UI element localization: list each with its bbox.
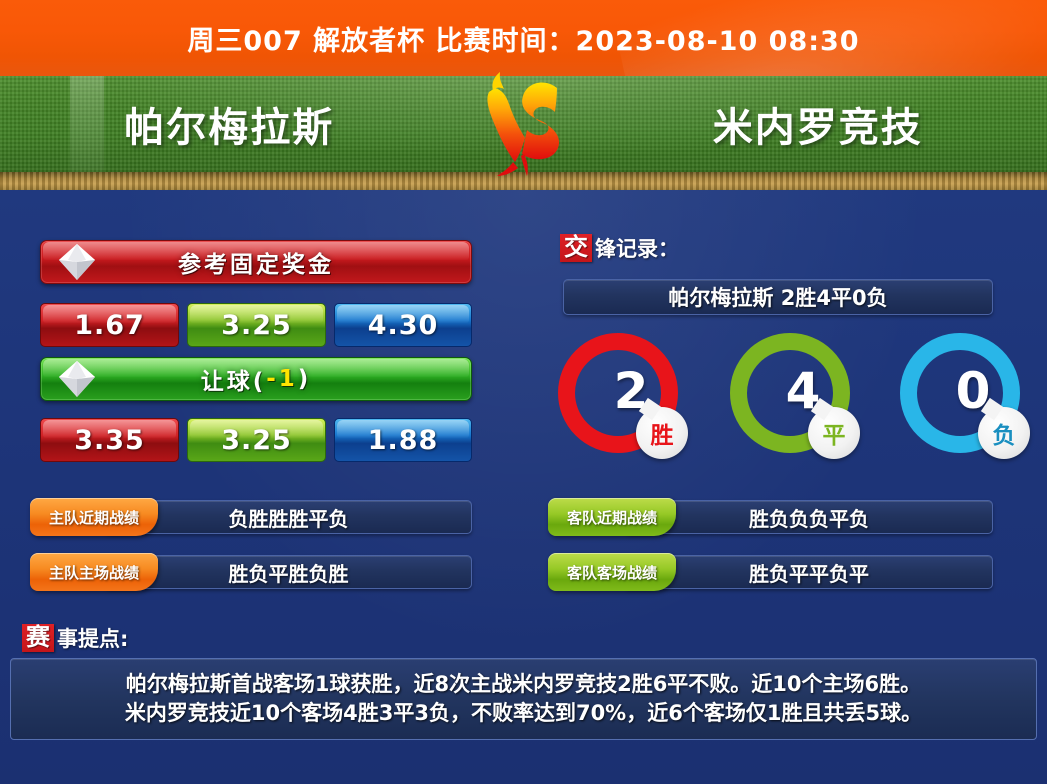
- odds-home-win[interactable]: 1.67: [40, 303, 179, 347]
- h2h-ring-loss: 0 负: [900, 333, 1020, 453]
- diamond-gem-icon: [55, 357, 99, 401]
- match-preview-graphic: 周三007 解放者杯 比赛时间：2023-08-10 08:30 帕尔梅拉斯: [0, 0, 1047, 784]
- analysis-header-label: 事提点:: [57, 623, 128, 653]
- home-recent-form-value: 负胜胜胜平负: [105, 500, 472, 534]
- handicap-title-prefix: 让球(: [201, 362, 267, 396]
- header-title: 周三007 解放者杯 比赛时间：2023-08-10 08:30: [187, 19, 859, 58]
- h2h-section-header: 交 锋记录：: [560, 233, 679, 263]
- diamond-gem-icon: [55, 240, 99, 284]
- fixed-odds-title: 参考固定奖金: [178, 245, 334, 279]
- handicap-title-bar: 让球( -1 ): [40, 357, 472, 401]
- handicap-away-win[interactable]: 1.88: [334, 418, 472, 462]
- h2h-ring-draw: 4 平: [730, 333, 850, 453]
- h2h-loss-badge: 负: [978, 407, 1030, 459]
- h2h-win-badge: 胜: [636, 407, 688, 459]
- analysis-line-2: 米内罗竞技近10个客场4胜3平3负，不败率达到70%，近6个客场仅1胜且共丢5球…: [125, 699, 922, 728]
- vs-flame-icon: [469, 70, 579, 178]
- home-team-name: 帕尔梅拉斯: [0, 95, 459, 153]
- analysis-box: 帕尔梅拉斯首战客场1球获胜，近8次主战米内罗竞技2胜6平不败。近10个主场6胜。…: [10, 658, 1037, 740]
- away-team-name: 米内罗竞技: [589, 95, 1047, 153]
- vs-logo: [459, 70, 589, 178]
- h2h-summary-bar: 帕尔梅拉斯 2胜4平0负: [563, 279, 993, 315]
- header-bar: 周三007 解放者杯 比赛时间：2023-08-10 08:30: [0, 0, 1047, 76]
- odds-draw[interactable]: 3.25: [187, 303, 326, 347]
- h2h-ring-win: 2 胜: [558, 333, 678, 453]
- fixed-odds-title-bar: 参考固定奖金: [40, 240, 472, 284]
- handicap-title-suffix: ): [298, 366, 312, 392]
- away-away-form-value: 胜负平平负平: [625, 555, 993, 589]
- analysis-section-header: 赛 事提点:: [22, 623, 128, 653]
- handicap-home-win[interactable]: 3.35: [40, 418, 179, 462]
- away-recent-form-value: 胜负负负平负: [625, 500, 993, 534]
- h2h-header-label: 锋记录：: [595, 233, 679, 263]
- odds-away-win[interactable]: 4.30: [334, 303, 472, 347]
- handicap-value: -1: [266, 366, 298, 392]
- analysis-header-glyph: 赛: [22, 624, 54, 652]
- away-recent-form-label: 客队近期战绩: [548, 498, 676, 536]
- analysis-line-1: 帕尔梅拉斯首战客场1球获胜，近8次主战米内罗竞技2胜6平不败。近10个主场6胜。: [126, 670, 921, 699]
- home-home-form-value: 胜负平胜负胜: [105, 555, 472, 589]
- home-home-form-label: 主队主场战绩: [30, 553, 158, 591]
- teams-row: 帕尔梅拉斯: [0, 76, 1047, 172]
- away-away-form-label: 客队客场战绩: [548, 553, 676, 591]
- home-recent-form-label: 主队近期战绩: [30, 498, 158, 536]
- handicap-draw[interactable]: 3.25: [187, 418, 326, 462]
- h2h-header-glyph: 交: [560, 234, 592, 262]
- h2h-draw-badge: 平: [808, 407, 860, 459]
